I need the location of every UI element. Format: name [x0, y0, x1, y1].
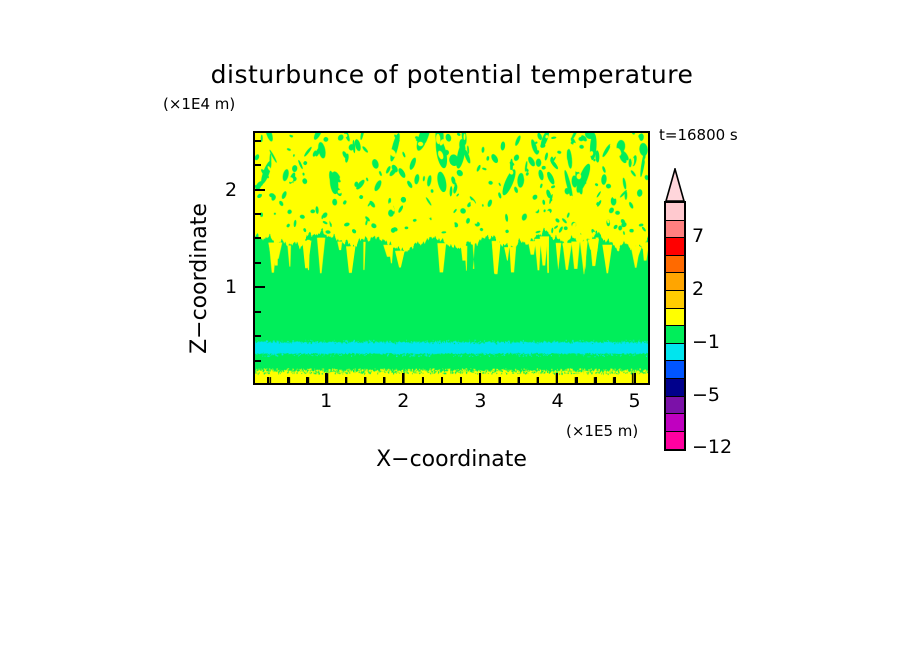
x-axis-tick: [402, 373, 404, 383]
time-annotation: t=16800 s: [659, 126, 738, 144]
colorbar-band: [666, 203, 684, 221]
x-axis-tick: [556, 373, 558, 383]
y-axis-unit-label: (×1E4 m): [163, 95, 235, 113]
colorbar-band: [666, 414, 684, 432]
x-axis-tick: [422, 377, 424, 383]
y-axis-tick: [255, 286, 265, 288]
x-axis-unit-label: (×1E5 m): [566, 422, 638, 440]
page-title: disturbunce of potential temperature: [0, 60, 904, 89]
x-axis-tick: [634, 373, 636, 383]
x-axis-tick: [479, 373, 481, 383]
x-axis-tick: [287, 377, 289, 383]
x-axis-title: X−coordinate: [253, 447, 650, 472]
x-axis-tick: [267, 377, 269, 383]
colorbar-tick-label: −12: [692, 436, 732, 458]
x-axis-tick: [576, 377, 578, 383]
x-axis-tick: [518, 377, 520, 383]
x-axis-tick: [325, 373, 327, 383]
y-axis-tick-label: 1: [225, 276, 237, 298]
colorbar-band: [666, 432, 684, 450]
y-axis-tick: [255, 262, 261, 264]
y-axis-tick-label: 2: [225, 179, 237, 201]
x-axis-tick-label: 1: [320, 390, 332, 412]
colorbar-band: [666, 273, 684, 291]
x-axis-tick: [364, 377, 366, 383]
colorbar-band: [666, 221, 684, 239]
y-axis-tick: [255, 311, 261, 313]
colorbar-tick-label: −5: [692, 384, 720, 406]
colorbar-band: [666, 379, 684, 397]
y-axis-tick: [255, 140, 261, 142]
x-axis-tick-label: 5: [629, 390, 641, 412]
x-axis-tick: [460, 377, 462, 383]
x-axis-tick: [537, 377, 539, 383]
x-axis-tick-label: 3: [474, 390, 486, 412]
x-axis-tick: [595, 377, 597, 383]
colorbar-band: [666, 344, 684, 362]
x-axis-tick: [499, 377, 501, 383]
colorbar-band: [666, 238, 684, 256]
colorbar-tick-label: 2: [692, 278, 704, 300]
y-axis-tick: [255, 189, 265, 191]
x-axis-tick: [345, 377, 347, 383]
y-axis-tick: [255, 237, 261, 239]
y-axis-tick: [255, 335, 261, 337]
x-axis-tick: [306, 377, 308, 383]
y-axis-title-text: Z−coordinate: [187, 203, 212, 354]
colorbar-arrow-icon: [664, 168, 686, 202]
colorbar-band: [666, 326, 684, 344]
colorbar-band: [666, 361, 684, 379]
colorbar-band: [666, 309, 684, 327]
y-axis-title: Z−coordinate: [183, 170, 215, 386]
y-axis-tick: [255, 360, 261, 362]
y-axis-tick: [255, 213, 261, 215]
contour-plot-figure: disturbunce of potential temperature (×1…: [0, 0, 904, 654]
colorbar-bands: [664, 201, 686, 451]
x-axis-tick: [614, 377, 616, 383]
colorbar-band: [666, 256, 684, 274]
colorbar-band: [666, 397, 684, 415]
contour-field-canvas: [255, 133, 648, 383]
x-axis-tick: [441, 377, 443, 383]
x-axis-tick-label: 4: [551, 390, 563, 412]
colorbar-tick-label: −1: [692, 331, 720, 353]
x-axis-tick: [383, 377, 385, 383]
y-axis-tick: [255, 164, 261, 166]
plot-area: [253, 131, 650, 385]
colorbar-tick-label: 7: [692, 225, 704, 247]
colorbar-band: [666, 291, 684, 309]
x-axis-tick-label: 2: [397, 390, 409, 412]
